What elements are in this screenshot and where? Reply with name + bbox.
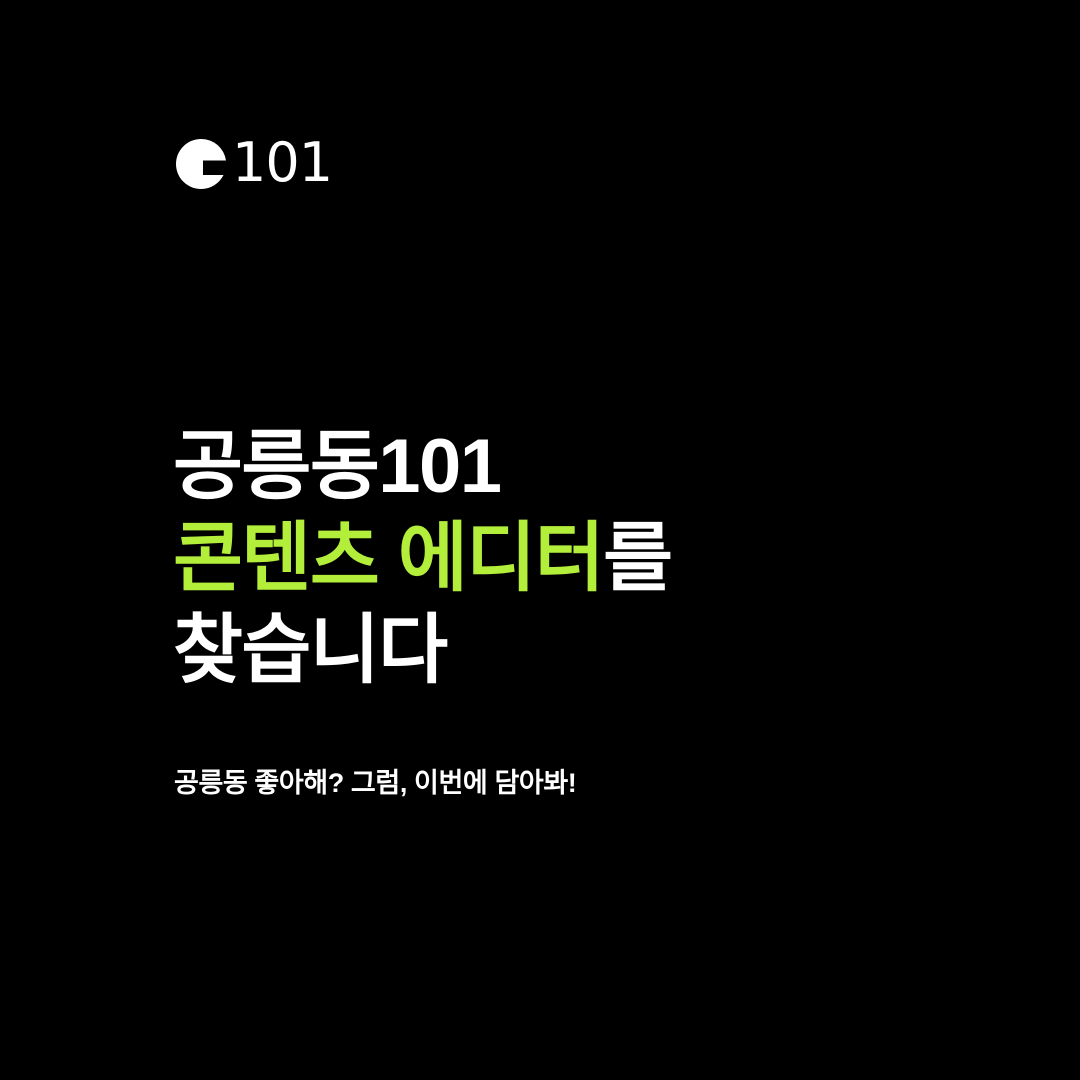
headline-line-1: 공릉동101 (173, 421, 993, 513)
subtitle: 공릉동 좋아해? 그럼, 이번에 담아봐! (174, 765, 576, 801)
headline-line-3: 찾습니다 (173, 605, 993, 697)
circle-notch-logo-icon (176, 139, 226, 189)
headline-block: 공릉동101 콘텐츠 에디터를 찾습니다 (173, 421, 993, 697)
headline-accent-text: 콘텐츠 에디터 (173, 516, 603, 601)
headline-line-2: 콘텐츠 에디터를 (173, 513, 993, 605)
brand-logo[interactable]: 101 (176, 133, 332, 195)
headline-line-3-text: 찾습니다 (173, 608, 447, 693)
brand-wordmark: 101 (232, 136, 332, 190)
headline-line-2-tail: 를 (603, 516, 671, 601)
headline-line-1-text: 공릉동101 (173, 424, 501, 509)
poster-canvas: 101 공릉동101 콘텐츠 에디터를 찾습니다 공릉동 좋아해? 그럼, 이번… (0, 0, 1080, 1080)
